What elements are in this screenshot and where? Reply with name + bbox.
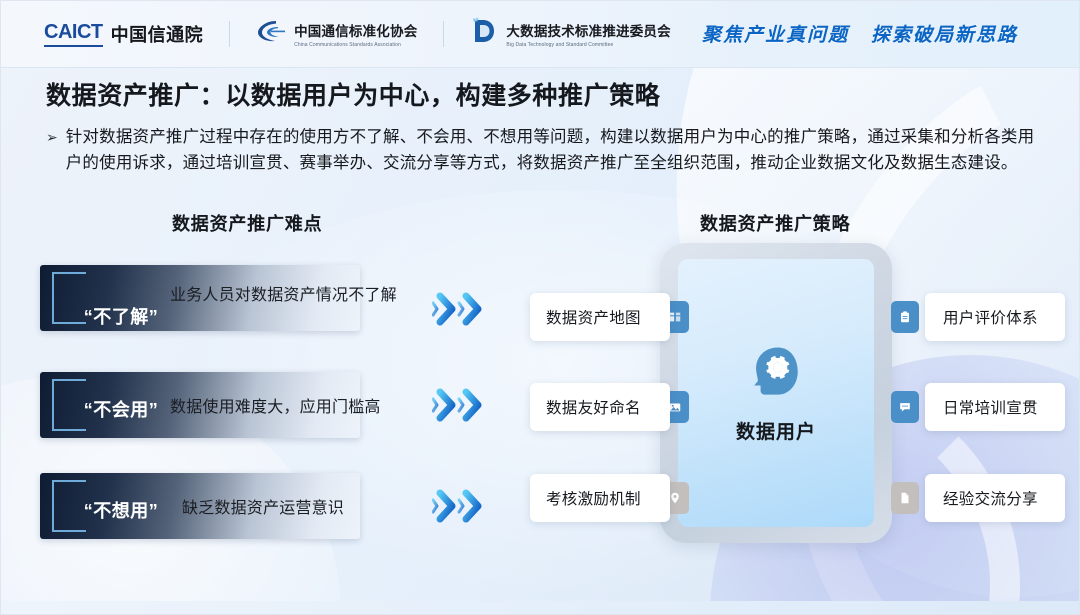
slide-header: CAICT 中国信通院 中国通信标准化协会 China Communicatio…	[0, 0, 1080, 68]
pain-point-desc-3: 缺乏数据资产运营意识	[182, 497, 462, 521]
right-column-heading: 数据资产推广策略	[700, 210, 850, 236]
strategy-pill-left-2[interactable]: 数据友好命名	[530, 383, 670, 431]
chat-bubble-icon	[891, 391, 919, 423]
tagline-part-2: 探索破局新思路	[871, 20, 1018, 47]
logo-divider-1	[229, 21, 230, 47]
bdtc-logo-label-en: Big Data Technology and Standard Committ…	[506, 42, 670, 48]
intro-bullet: ➢ 针对数据资产推广过程中存在的使用方不了解、不会用、不想用等问题，构建以数据用…	[46, 124, 1041, 176]
bdtc-logo-label-cn: 大数据技术标准推进委员会	[506, 20, 670, 40]
page-title: 数据资产推广：以数据用户为中心，构建多种推广策略	[46, 76, 660, 112]
strategy-pill-left-label-3: 考核激励机制	[546, 487, 641, 509]
logo-divider-2	[443, 21, 444, 47]
strategy-pill-right-1[interactable]: 用户评价体系	[925, 293, 1065, 341]
slide-canvas: CAICT 中国信通院 中国通信标准化协会 China Communicatio…	[0, 0, 1080, 615]
strategy-pill-right-2[interactable]: 日常培训宣贯	[925, 383, 1065, 431]
pain-point-key-2: “不会用”	[62, 396, 180, 422]
center-tablet-frame: 数据用户	[660, 243, 892, 543]
pain-point-desc-2: 数据使用难度大，应用门槛高	[170, 396, 450, 420]
header-tagline: 聚焦产业真问题 探索破局新思路	[702, 20, 1080, 47]
intro-bullet-text: 针对数据资产推广过程中存在的使用方不了解、不会用、不想用等问题，构建以数据用户为…	[66, 124, 1041, 176]
head-gear-icon	[747, 342, 805, 405]
ccsa-logo-icon	[256, 18, 286, 49]
double-chevron-right-icon-1	[432, 288, 498, 330]
ccsa-logo-label-cn: 中国通信标准化协会	[294, 20, 417, 40]
pain-point-key-1: “不了解”	[62, 303, 180, 329]
left-column-heading: 数据资产推广难点	[172, 210, 322, 236]
caict-logo: CAICT 中国信通院	[44, 21, 203, 47]
tablet-screen: 数据用户	[678, 259, 874, 527]
bullet-arrow-icon: ➢	[46, 124, 58, 176]
strategy-pill-right-label-1: 用户评价体系	[943, 306, 1038, 328]
document-icon	[891, 482, 919, 514]
strategy-pill-left-label-1: 数据资产地图	[546, 306, 641, 328]
ccsa-logo: 中国通信标准化协会 China Communications Standards…	[256, 18, 417, 49]
strategy-pill-right-3[interactable]: 经验交流分享	[925, 474, 1065, 522]
strategy-pill-left-label-2: 数据友好命名	[546, 396, 641, 418]
bdtc-logo-icon	[470, 16, 498, 51]
caict-logo-label: 中国信通院	[111, 21, 204, 47]
strategy-pill-right-label-2: 日常培训宣贯	[943, 396, 1038, 418]
tagline-part-1: 聚焦产业真问题	[702, 20, 849, 47]
center-label: 数据用户	[736, 417, 816, 444]
bdtc-logo-text: 大数据技术标准推进委员会 Big Data Technology and Sta…	[506, 20, 670, 48]
strategy-pill-left-1[interactable]: 数据资产地图	[530, 293, 670, 341]
double-chevron-right-icon-3	[432, 485, 498, 527]
caict-logo-icon: CAICT	[44, 21, 103, 47]
pain-point-desc-1: 业务人员对数据资产情况不了解	[170, 284, 450, 308]
logo-group: CAICT 中国信通院 中国通信标准化协会 China Communicatio…	[0, 16, 671, 51]
ccsa-logo-label-en: China Communications Standards Associati…	[294, 42, 417, 48]
pain-point-key-3: “不想用”	[62, 497, 180, 523]
strategy-pill-left-3[interactable]: 考核激励机制	[530, 474, 670, 522]
strategy-pill-right-label-3: 经验交流分享	[943, 487, 1038, 509]
bdtc-logo: 大数据技术标准推进委员会 Big Data Technology and Sta…	[470, 16, 670, 51]
clipboard-icon	[891, 301, 919, 333]
footer-strip	[0, 601, 1080, 615]
double-chevron-right-icon-2	[432, 384, 498, 426]
ccsa-logo-text: 中国通信标准化协会 China Communications Standards…	[294, 20, 417, 48]
